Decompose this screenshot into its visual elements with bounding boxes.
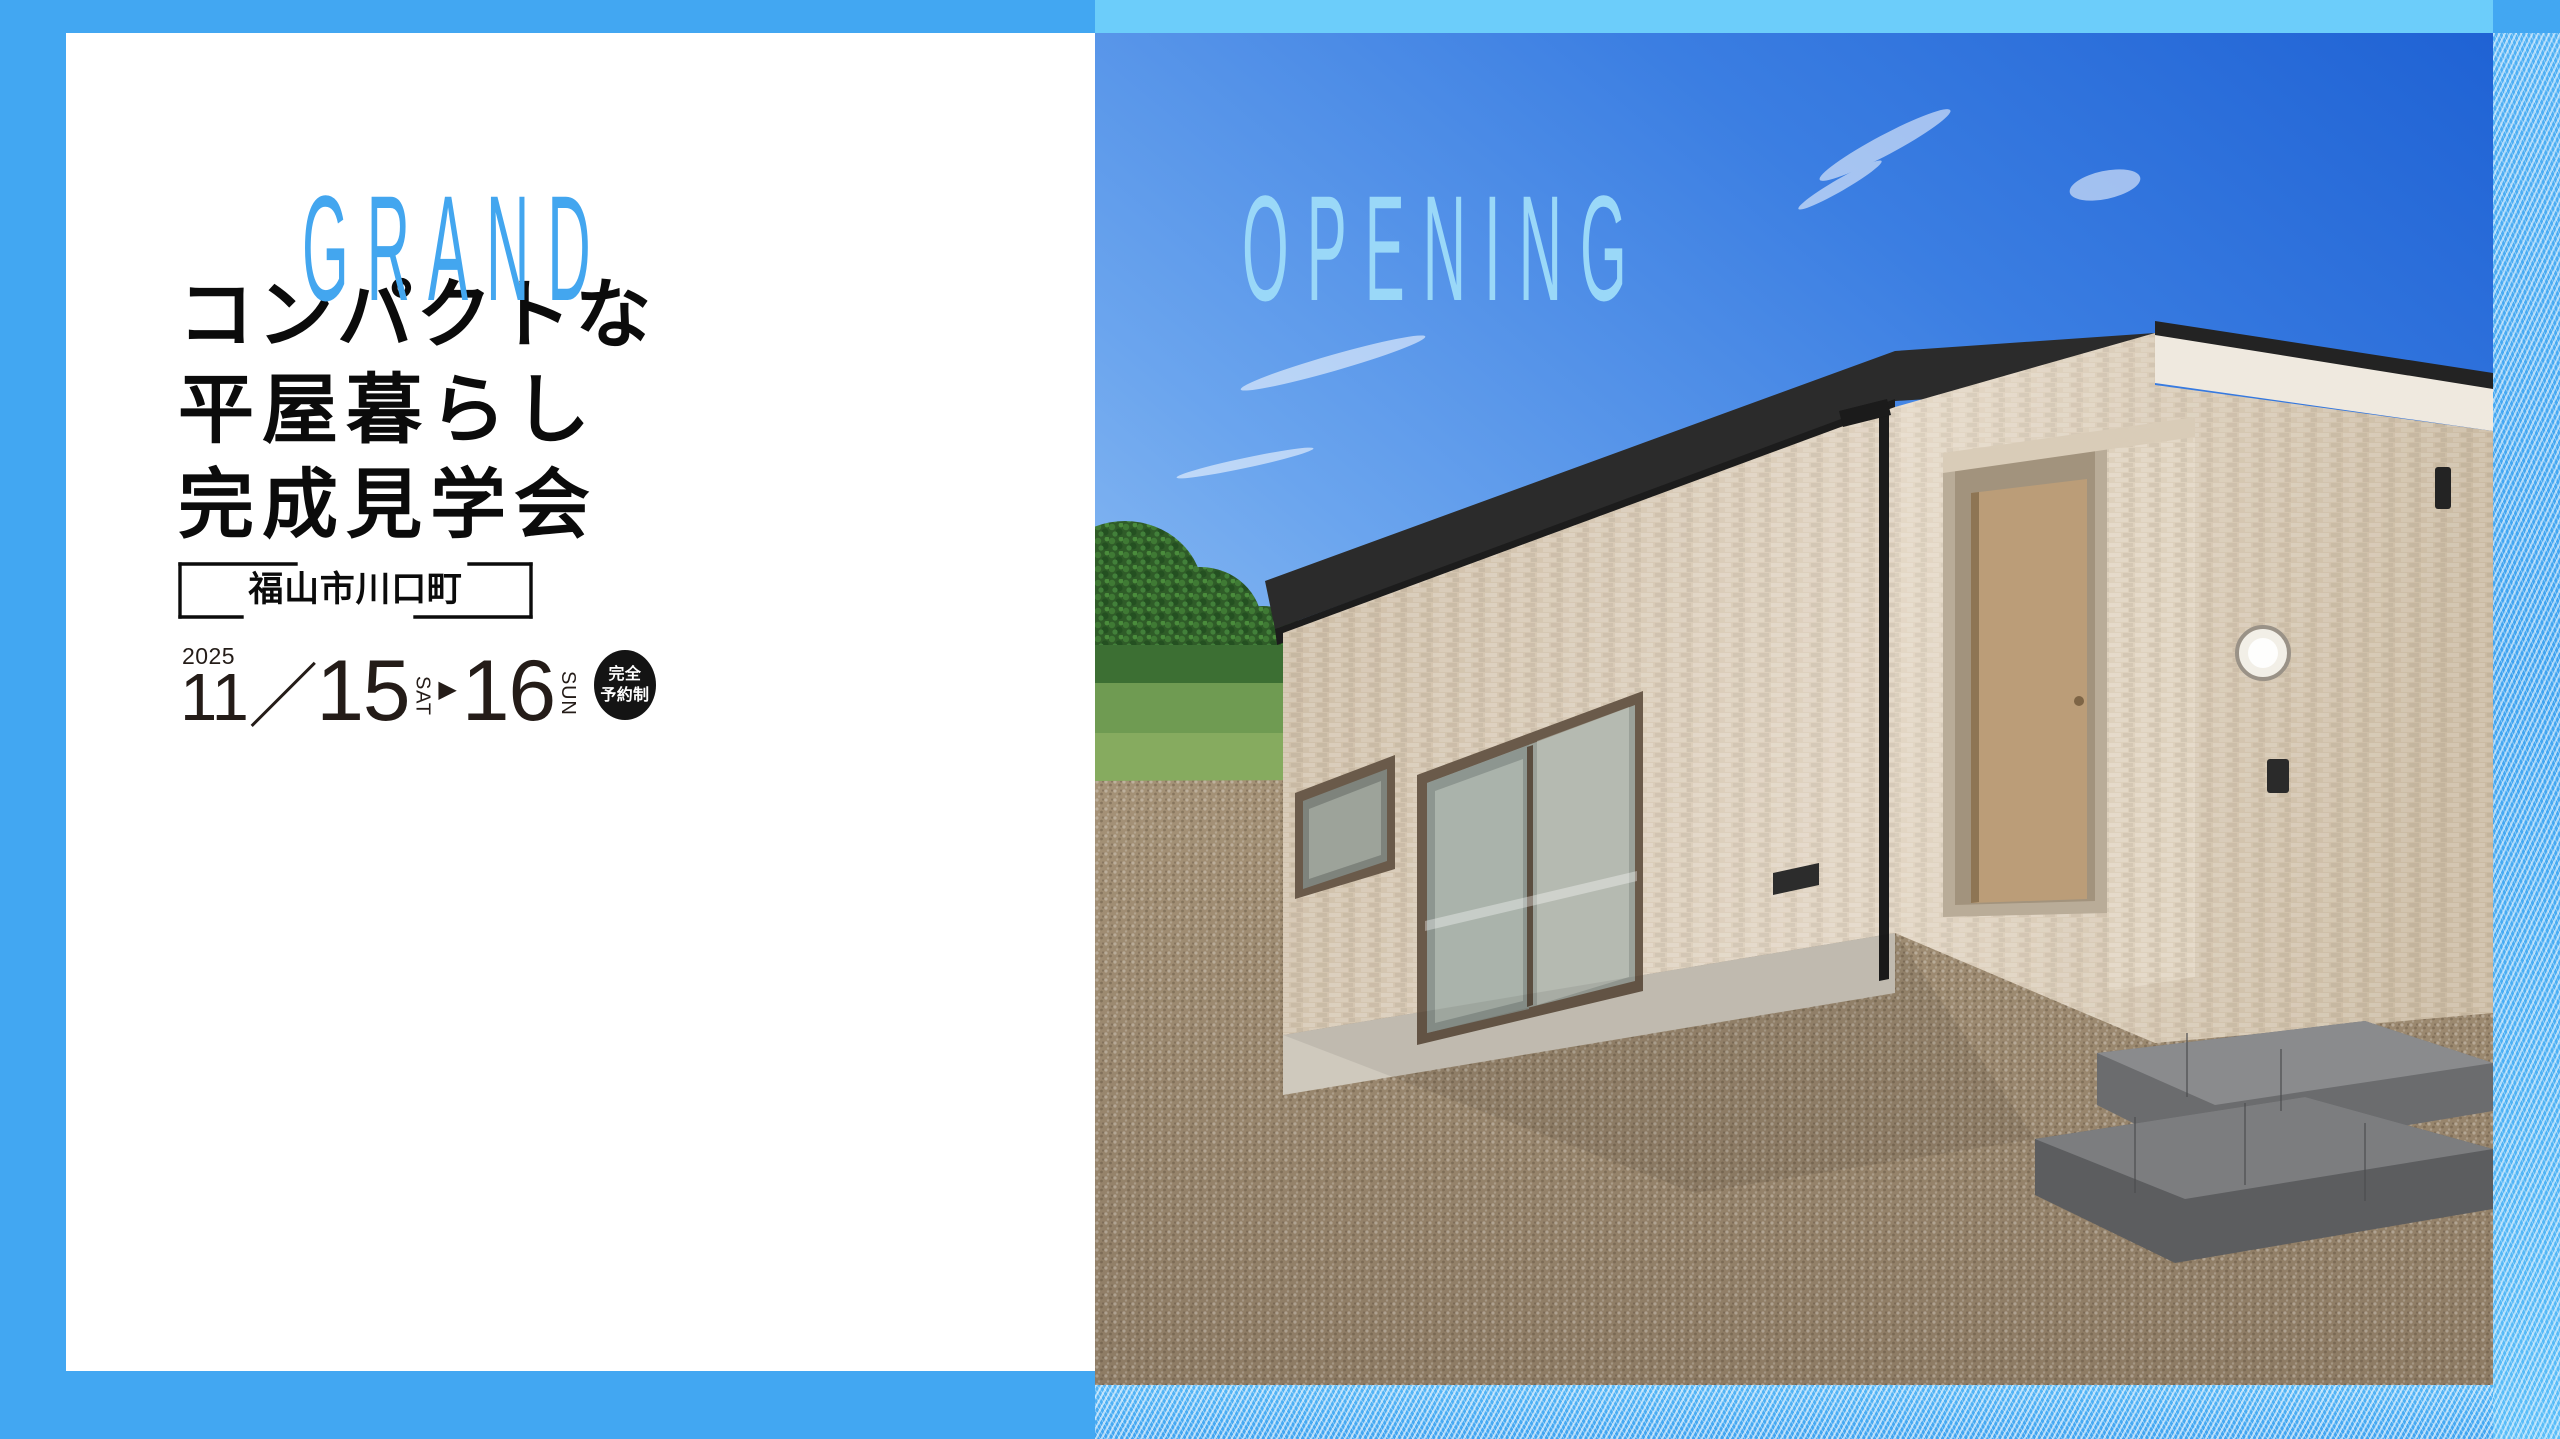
event-day-start: 15 bbox=[316, 657, 409, 726]
headline-line-1: コンパクトな bbox=[178, 268, 798, 363]
event-year: 2025 bbox=[182, 643, 235, 670]
event-month: 11 bbox=[180, 671, 248, 726]
reservation-badge-line-1: 完全 bbox=[609, 664, 642, 685]
event-headline: コンパクトな 平屋暮らし 完成見学会 bbox=[178, 268, 798, 553]
house-photo bbox=[1095, 33, 2493, 1385]
right-texture-strip bbox=[2493, 33, 2560, 1439]
reservation-badge-line-2: 予約制 bbox=[600, 685, 649, 706]
house-photo-illustration bbox=[1095, 33, 2493, 1385]
event-day-end: 16 bbox=[462, 657, 555, 726]
headline-line-2: 平屋暮らし bbox=[178, 363, 798, 458]
location-frame: 福山市川口町 bbox=[178, 562, 533, 619]
bottom-texture-strip bbox=[1095, 1385, 2493, 1439]
event-dow-end: SUN bbox=[558, 671, 578, 716]
date-range-arrow-icon: ▶ bbox=[438, 678, 456, 702]
headline-line-3: 完成見学会 bbox=[178, 458, 798, 553]
reservation-badge: 完全 予約制 bbox=[594, 650, 656, 720]
location-label: 福山市川口町 bbox=[178, 562, 533, 619]
year-month-group: 2025 11 bbox=[180, 671, 248, 726]
date-separator: ／ bbox=[248, 669, 318, 726]
top-accent-band bbox=[1095, 0, 2493, 33]
poster-canvas: GRAND OPENING コンパクトな 平屋暮らし 完成見学会 福山市川口町 bbox=[0, 0, 2560, 1439]
event-date-row: 2025 11 ／ 15 SAT ▶ 16 SUN 完全 予約制 bbox=[180, 650, 656, 726]
event-dow-start: SAT bbox=[412, 676, 432, 716]
